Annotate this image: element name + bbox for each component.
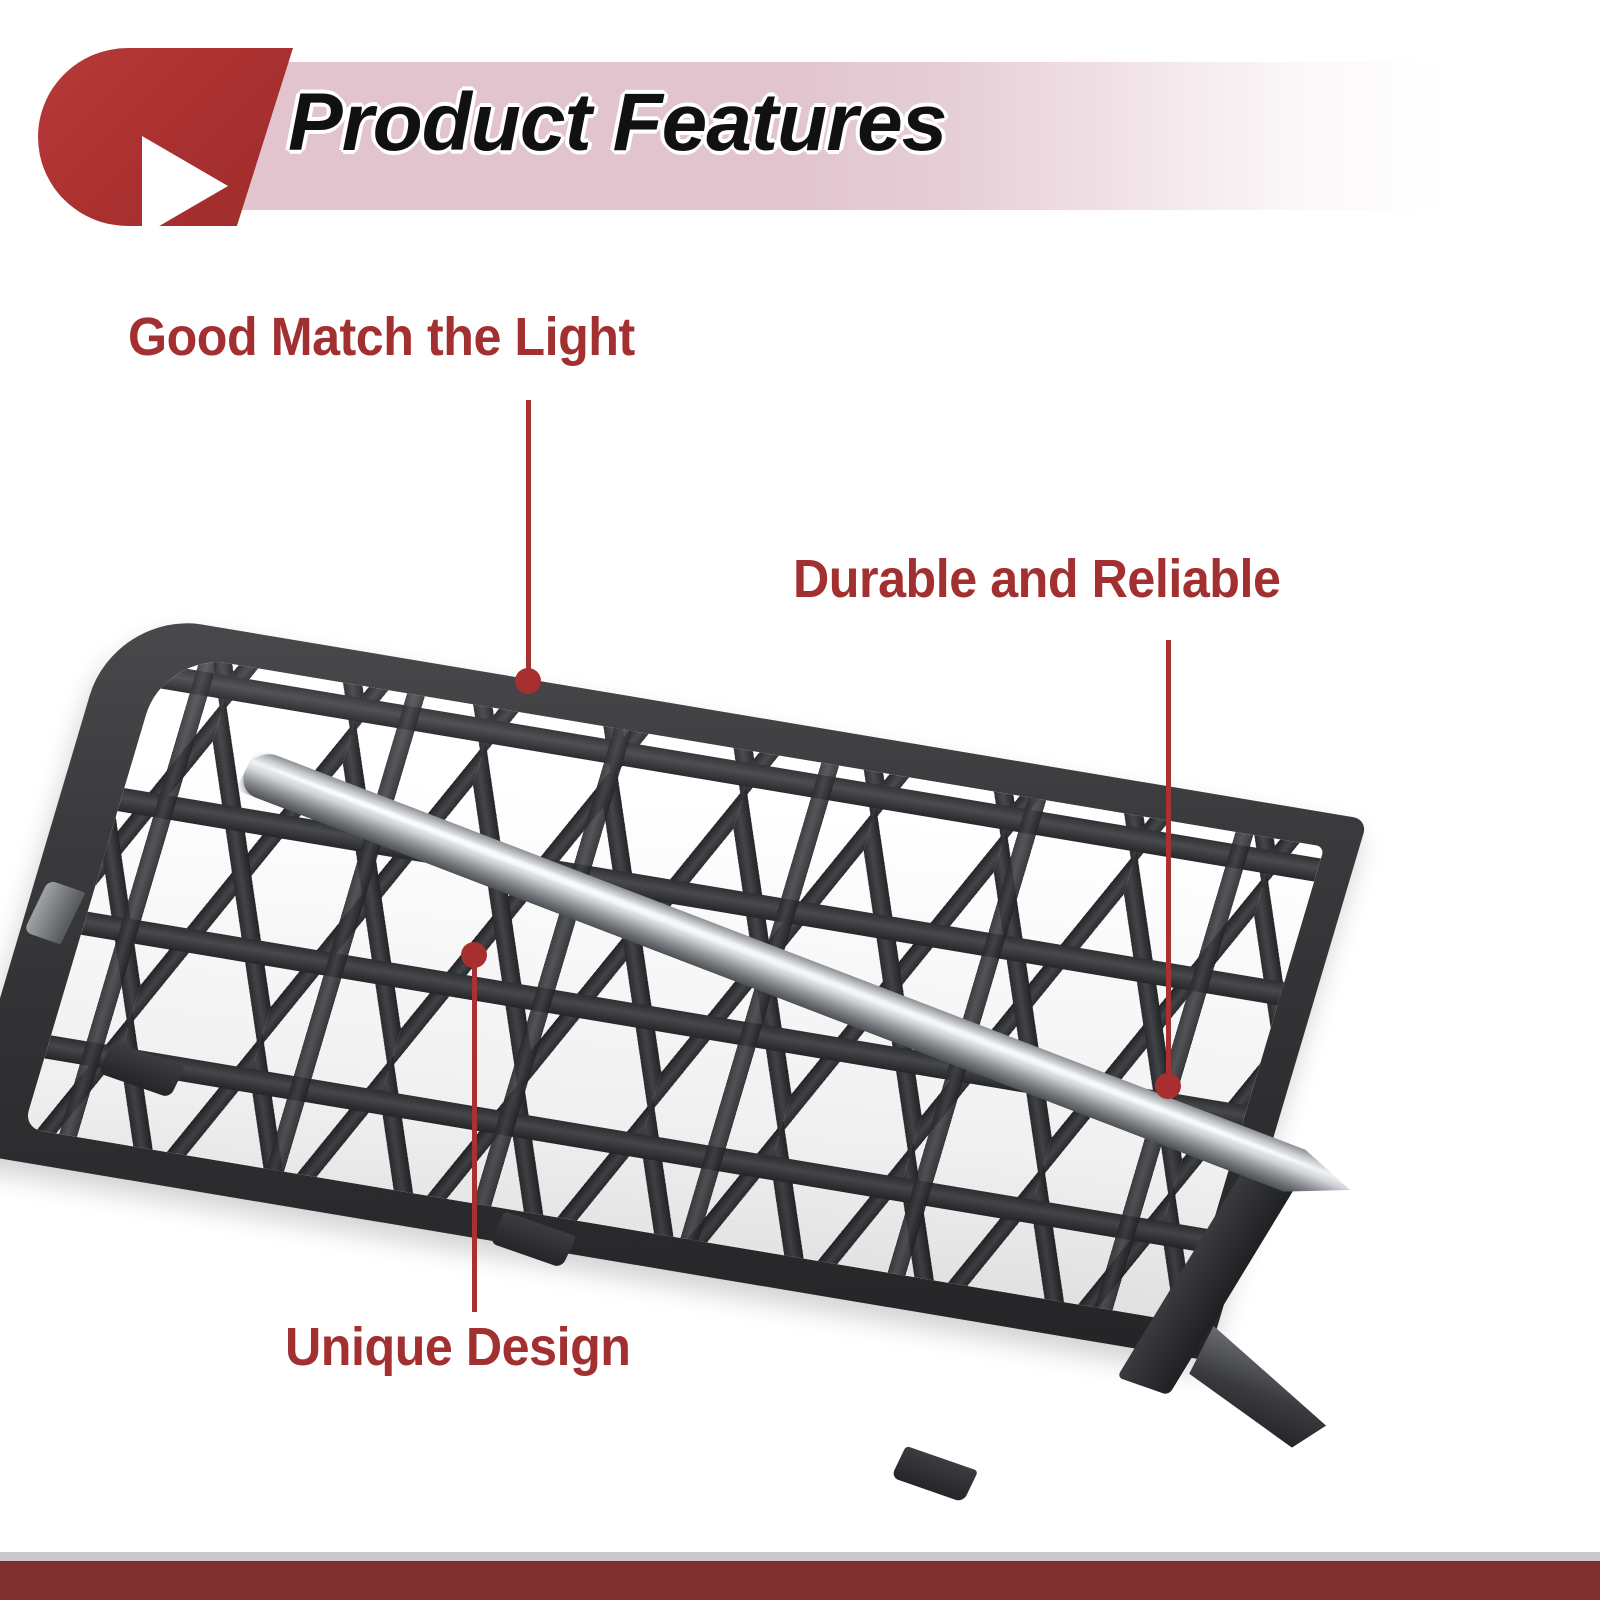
leader-dot-unique xyxy=(461,942,487,968)
leader-dot-good-match xyxy=(515,668,541,694)
page-title: Product Features xyxy=(288,76,946,170)
play-triangle-icon xyxy=(142,136,228,236)
grille-outer-frame xyxy=(0,610,1368,1361)
leader-line-durable xyxy=(1166,640,1171,1092)
chrome-trim-pointed-tip xyxy=(1174,1326,1350,1455)
callout-label-good-match: Good Match the Light xyxy=(128,306,635,368)
grille-side-nub xyxy=(24,880,86,945)
callout-label-unique: Unique Design xyxy=(285,1316,631,1378)
header-banner: Product Features xyxy=(0,0,1600,240)
leader-line-good-match xyxy=(526,400,531,682)
grille-mesh-area xyxy=(24,653,1325,1322)
honeycomb-mesh xyxy=(24,653,1325,1322)
footer-red-band xyxy=(0,1561,1600,1600)
grille-mount-tab xyxy=(489,1211,576,1268)
leader-dot-durable xyxy=(1155,1073,1181,1099)
leader-line-unique xyxy=(472,960,477,1312)
footer-gray-band xyxy=(0,1552,1600,1561)
grille-mount-tab xyxy=(891,1446,978,1503)
callout-label-durable: Durable and Reliable xyxy=(793,548,1280,610)
grille-stage xyxy=(95,590,1495,1400)
honeycomb-mesh-shading xyxy=(24,653,1325,1322)
product-photo-grille xyxy=(95,590,1495,1400)
